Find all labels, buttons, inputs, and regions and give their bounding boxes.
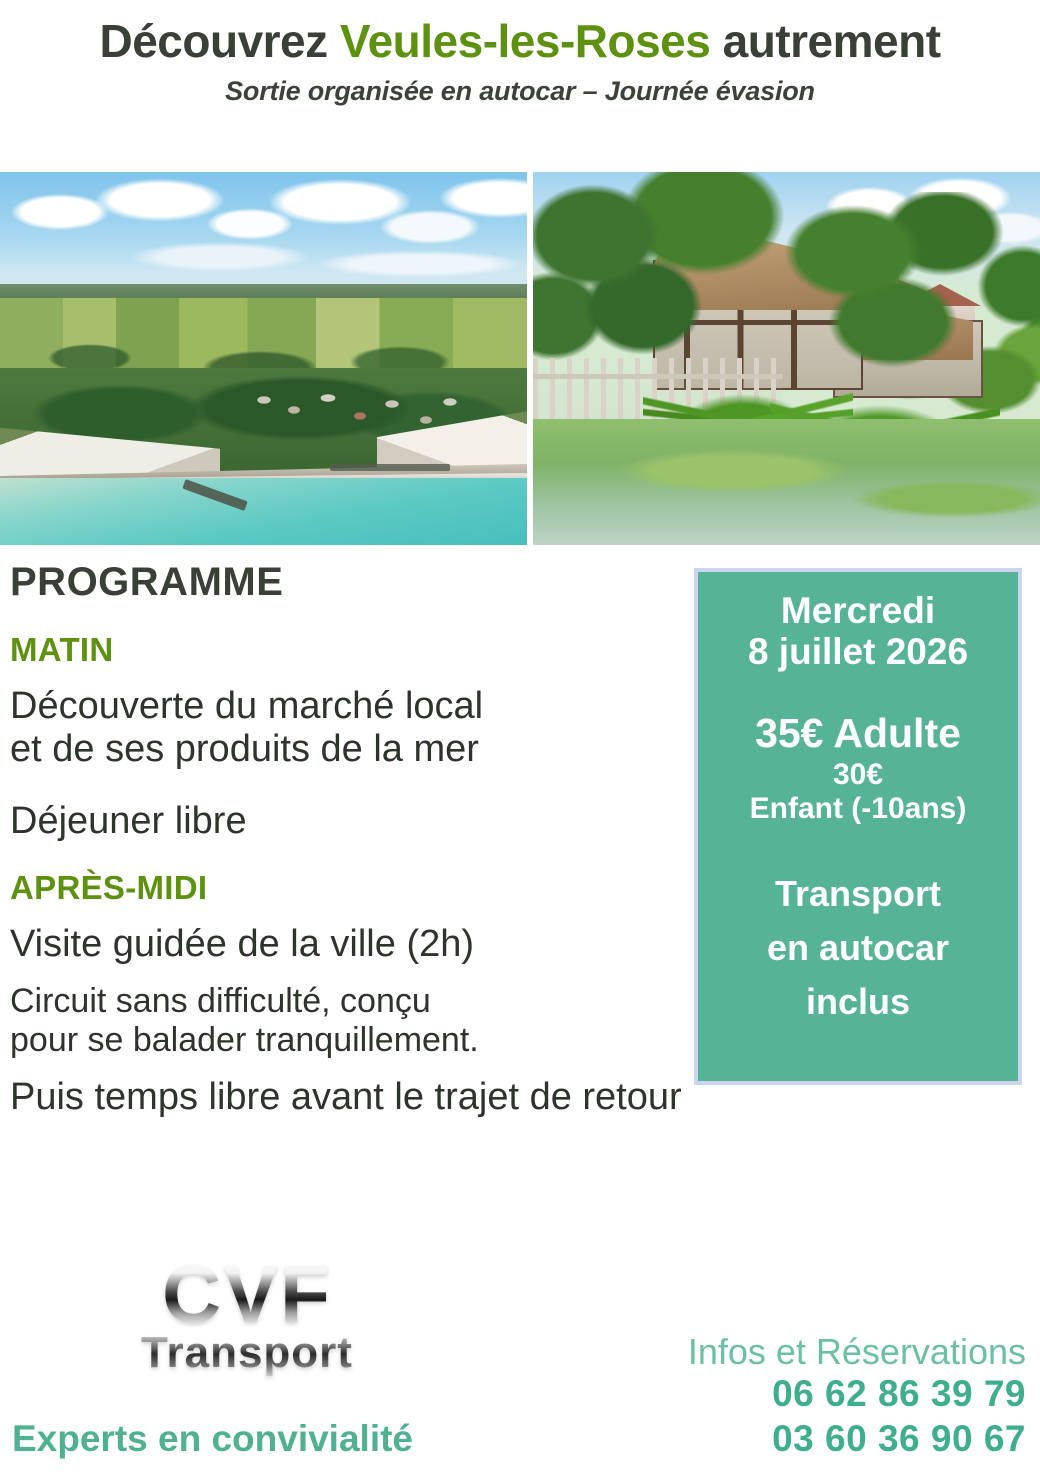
contact-block: Infos et Réservations 06 62 86 39 79 03 … xyxy=(688,1332,1026,1461)
cloud-layer xyxy=(0,172,527,292)
event-date: Mercredi 8 juillet 2026 xyxy=(748,590,968,673)
poster-root: Découvrez Veules-les-Roses autrement Sor… xyxy=(0,0,1040,1477)
title-part-1: Découvrez xyxy=(99,15,339,67)
aerial-photo-art xyxy=(0,172,527,545)
transport-line-2: en autocar xyxy=(767,927,949,968)
programme-item: Puis temps libre avant le trajet de reto… xyxy=(10,1076,700,1119)
contact-phone-landline[interactable]: 03 60 36 90 67 xyxy=(688,1417,1026,1461)
transport-line-1: Transport xyxy=(775,873,941,914)
photo-band xyxy=(0,172,1040,545)
programme-item-text: et de ses produits de la mer xyxy=(10,728,479,770)
logo-subtitle: Transport xyxy=(122,1328,372,1378)
seawall-icon xyxy=(330,464,450,471)
aerial-coastline-photo xyxy=(0,172,527,545)
info-box: Mercredi 8 juillet 2026 35€ Adulte 30€ E… xyxy=(694,568,1022,1085)
title-part-2: autrement xyxy=(710,15,940,67)
cottage-photo-art xyxy=(533,172,1040,545)
transport-included-note: Transport en autocar inclus xyxy=(767,867,949,1029)
price-child-label: Enfant (-10ans) xyxy=(750,792,967,827)
programme-item-text: pour se balader tranquillement. xyxy=(10,1021,479,1059)
price-child-amount: 30€ xyxy=(833,758,883,793)
programme-section-afternoon-label: APRÈS-MIDI xyxy=(10,869,700,907)
stream-water xyxy=(533,419,1040,545)
poster-header: Découvrez Veules-les-Roses autrement Sor… xyxy=(0,0,1040,107)
programme-heading: PROGRAMME xyxy=(10,560,700,605)
programme-block: PROGRAMME MATIN Découverte du marché loc… xyxy=(10,560,700,1119)
programme-item-text: Découverte du marché local xyxy=(10,685,483,727)
thatched-cottage-stream-photo xyxy=(533,172,1040,545)
programme-item-text: Circuit sans difficulté, conçu xyxy=(10,982,431,1020)
price-adult: 35€ Adulte xyxy=(755,711,961,756)
contact-label: Infos et Réservations xyxy=(688,1332,1026,1372)
page-title: Découvrez Veules-les-Roses autrement xyxy=(6,18,1034,64)
transport-line-3: inclus xyxy=(806,981,910,1022)
logo-wordmark: CVF xyxy=(122,1256,372,1334)
contact-phone-mobile[interactable]: 06 62 86 39 79 xyxy=(688,1372,1026,1416)
page-subtitle: Sortie organisée en autocar – Journée év… xyxy=(6,76,1034,107)
company-logo: CVF Transport xyxy=(122,1256,372,1378)
company-tagline: Experts en convivialité xyxy=(12,1418,413,1460)
event-date-day: 8 juillet 2026 xyxy=(748,631,968,672)
programme-item: Circuit sans difficulté, conçu pour se b… xyxy=(10,982,700,1060)
title-destination: Veules-les-Roses xyxy=(340,15,710,67)
programme-section-morning-label: MATIN xyxy=(10,631,700,669)
programme-item: Découverte du marché local et de ses pro… xyxy=(10,685,700,772)
programme-item: Déjeuner libre xyxy=(10,800,700,843)
turquoise-sea xyxy=(0,478,527,545)
event-date-weekday: Mercredi xyxy=(781,590,935,631)
programme-item: Visite guidée de la ville (2h) xyxy=(10,923,700,966)
